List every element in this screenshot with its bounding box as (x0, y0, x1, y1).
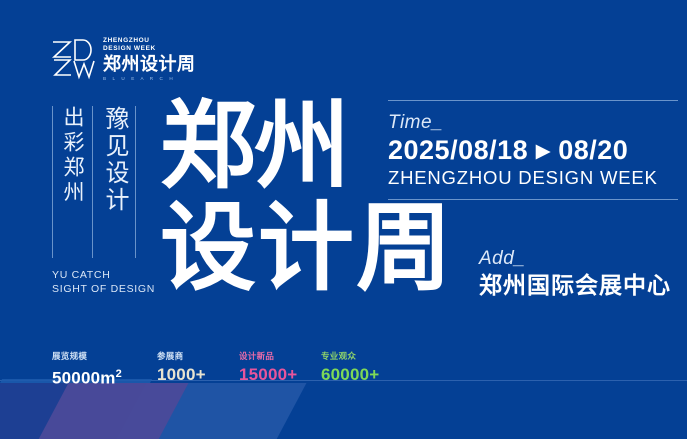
time-info-block: Time_ 2025/08/18 ▸ 08/20 ZHENGZHOU DESIG… (388, 100, 678, 200)
stat-value: 15000+ (239, 364, 321, 385)
zdzw-monogram-icon (50, 33, 96, 81)
time-rule-bottom (388, 199, 678, 200)
poster-canvas: ZHENGZHOU DESIGN WEEK 郑州设计周 B L U E A R … (0, 0, 687, 439)
title-line-2: 设计周 (160, 202, 390, 296)
deco-band-blue (114, 383, 307, 439)
logo-subtitle: B L U E A R C H (103, 76, 196, 82)
stat-value: 50000m2 (52, 364, 157, 389)
stat-value: 1000+ (157, 364, 239, 385)
slogan-column-chucai: 出彩郑州 (53, 106, 92, 258)
event-name-english: ZHENGZHOU DESIGN WEEK (388, 167, 678, 189)
event-date: 2025/08/18 ▸ 08/20 (388, 134, 678, 167)
deco-band-purple (36, 383, 189, 439)
stat-label: 展览规模 (52, 350, 157, 362)
title-line-1: 郑州 (160, 100, 390, 194)
slogan-rule-right (135, 106, 136, 258)
main-title: 郑州 设计周 (160, 100, 390, 296)
logo-chinese: 郑州设计周 (103, 54, 196, 74)
stat-item: 展览规模 50000m2 (52, 350, 157, 389)
time-rule-top (388, 100, 678, 101)
address-block: Add_ 郑州国际会展中心 (479, 248, 671, 299)
stats-bar: 展览规模 50000m2 参展商 1000+ 设计新品 15000+ 专业观众 … (52, 350, 403, 389)
stat-label: 专业观众 (321, 350, 403, 362)
deco-band-dark (0, 383, 186, 439)
time-kicker: Time_ (388, 112, 678, 134)
stat-item: 专业观众 60000+ (321, 350, 403, 389)
venue-name: 郑州国际会展中心 (479, 271, 671, 299)
brand-logo: ZHENGZHOU DESIGN WEEK 郑州设计周 B L U E A R … (50, 33, 196, 82)
stat-item: 参展商 1000+ (157, 350, 239, 389)
address-kicker: Add_ (479, 248, 671, 270)
stat-value: 60000+ (321, 364, 403, 385)
slogan-english: YU CATCH SIGHT OF DESIGN (52, 268, 155, 296)
stat-label: 参展商 (157, 350, 239, 362)
stat-item: 设计新品 15000+ (239, 350, 321, 389)
slogan-column-yujian: 豫见设计 (93, 106, 135, 258)
logo-english: ZHENGZHOU DESIGN WEEK (103, 37, 196, 52)
stat-label: 设计新品 (239, 350, 321, 362)
vertical-slogan: 出彩郑州 豫见设计 (52, 106, 136, 258)
logo-text-block: ZHENGZHOU DESIGN WEEK 郑州设计周 B L U E A R … (103, 33, 196, 82)
